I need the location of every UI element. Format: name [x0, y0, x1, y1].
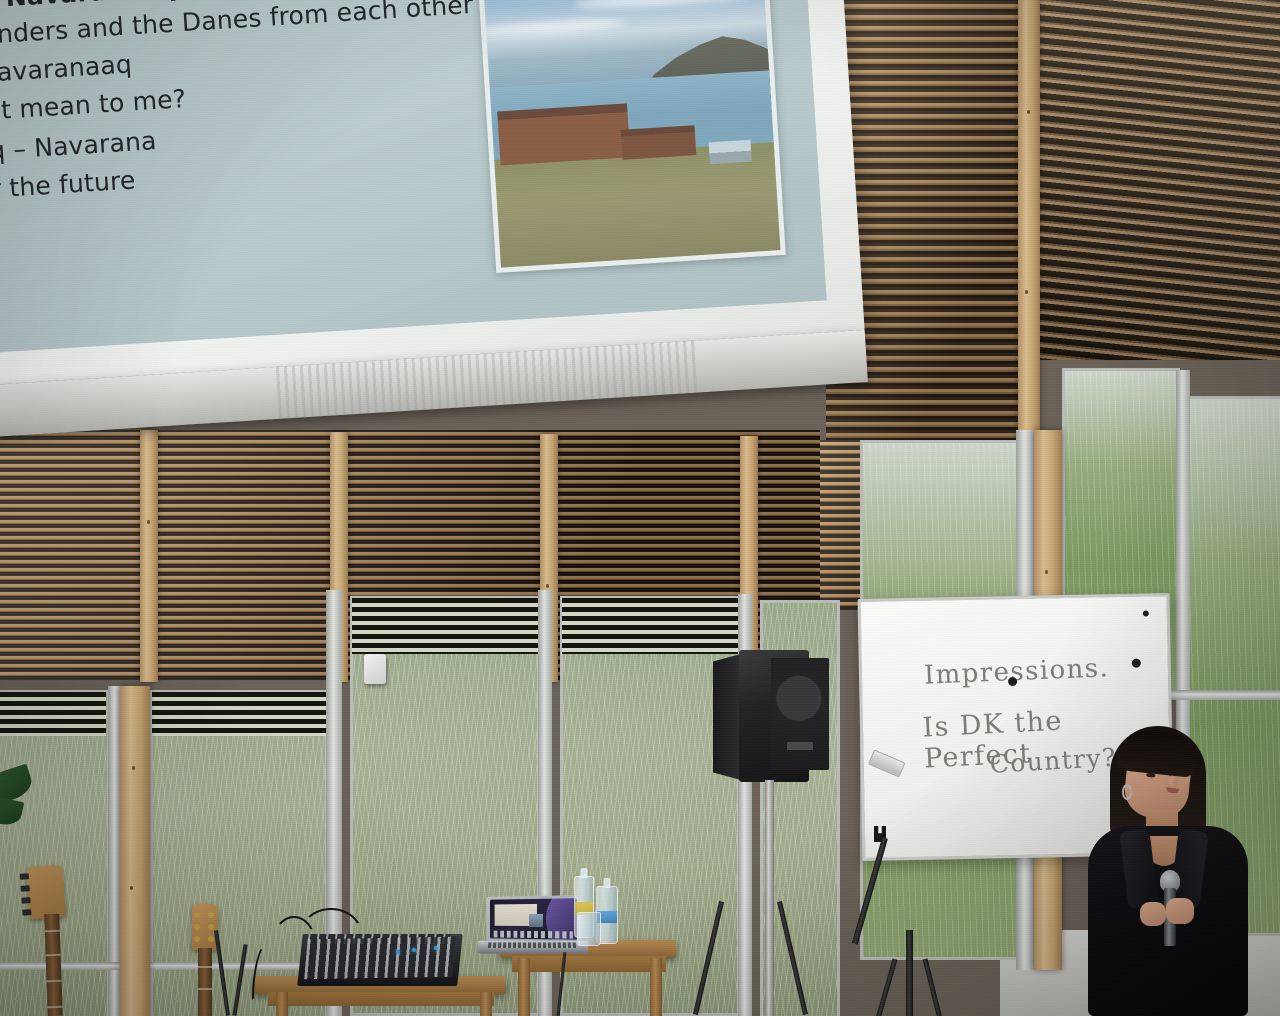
ceiling-slat-panel [1030, 0, 1280, 360]
presenter-hand-left [1140, 902, 1166, 926]
mic-stand-leg-b [923, 958, 943, 1016]
bass-tuner-4 [22, 909, 31, 916]
speaker-stand-pole [765, 780, 774, 1016]
presentation-slide: ...astari_radio=1 xcLdsW1zL- ...out Nava… [0, 0, 827, 353]
audio-mixer[interactable] [300, 928, 460, 990]
speaker-cabinet-front [739, 650, 809, 782]
transom-slats-center-right [562, 598, 738, 654]
mixer-led-1 [396, 950, 400, 954]
slide-bullet-3: ...as Navaranaaq [0, 49, 133, 91]
slide-photo-building-main [497, 103, 630, 165]
transom-slats-center [352, 598, 538, 654]
projection-screen-surface: ...astari_radio=1 xcLdsW1zL- ...out Nava… [0, 0, 865, 385]
table-right-leg-a [518, 958, 530, 1016]
acoustic-tuner-6 [208, 936, 214, 942]
bottle-neck [581, 868, 588, 878]
slide-photo-greenland-settlement [476, 0, 785, 273]
laptop-base [477, 941, 588, 954]
acoustic-tuner-2 [194, 924, 200, 930]
table-left-leg-b [480, 992, 492, 1016]
acoustic-tuner-3 [194, 936, 200, 942]
acoustic-fret-1 [198, 966, 212, 968]
presenter-laptop[interactable] [478, 896, 588, 960]
mixer-fader-bank[interactable] [304, 937, 456, 980]
slide-bullet-5: ...naaq – Navarana [0, 126, 157, 170]
speaker-grille [771, 658, 829, 770]
whiteboard-eraser[interactable] [868, 750, 906, 778]
laptop-dock[interactable] [494, 931, 573, 939]
drinking-glass[interactable] [577, 912, 601, 946]
bass-fret-4 [47, 1006, 62, 1009]
wall-sensor-box [364, 654, 386, 684]
acoustic-fret-2 [198, 988, 212, 990]
bass-tuner-3 [21, 897, 30, 904]
table-left-apron [268, 992, 494, 1006]
bass-fret-3 [47, 980, 62, 983]
acoustic-guitar-neck [198, 948, 212, 1016]
transom-slats-left [0, 692, 106, 736]
bass-tuner-2 [21, 885, 30, 892]
wood-post-window-left [120, 686, 150, 1016]
bottle-neck-blue [604, 878, 611, 888]
laptop-keyboard[interactable] [488, 942, 576, 948]
mixer-led-2 [412, 948, 416, 952]
laptop-screen[interactable] [490, 898, 577, 939]
laptop-slide-thumbnail [529, 914, 543, 927]
slide-bullet-4: ...oes it mean to me? [0, 84, 187, 130]
whiteboard-magnet-3 [1143, 610, 1149, 616]
mixer-led-3 [434, 946, 438, 950]
bass-guitar-headstock [26, 865, 66, 919]
transom-slats-center-left [152, 692, 326, 736]
bass-fret-1 [45, 930, 60, 933]
slide-bullet-6: ...e for the future [0, 165, 136, 208]
speaker-badge [787, 742, 813, 750]
projection-screen: ...astari_radio=1 xcLdsW1zL- ...out Nava… [0, 0, 870, 465]
wood-post-vertical-right [1018, 0, 1040, 470]
table-right-leg-b [650, 958, 662, 1016]
whiteboard-magnet-2 [1132, 659, 1141, 668]
acoustic-tuner-5 [208, 924, 214, 930]
speaker-cabinet-side [713, 654, 741, 780]
slide-photo-shed [709, 140, 752, 165]
presenter [1078, 726, 1278, 1016]
laptop-lid [486, 895, 581, 943]
slide-photo-cloud-2 [574, 0, 754, 10]
acoustic-guitar-headstock [192, 904, 218, 950]
bass-tuner-1 [20, 873, 29, 880]
bass-fret-2 [46, 954, 61, 957]
slide-photo-building-second [621, 125, 697, 160]
wood-post-1 [140, 430, 158, 682]
presenter-hand-right [1166, 898, 1194, 924]
slide-photo-cloud-3 [476, 17, 626, 36]
acoustic-tuner-4 [208, 912, 214, 918]
acoustic-tuner-1 [194, 912, 200, 918]
photo-scene: Impressions. Is DK the Perfect Country? [0, 0, 1280, 1016]
pa-speaker [713, 650, 809, 782]
mic-stand-leg-a [876, 959, 898, 1016]
laptop-document-window[interactable] [495, 904, 537, 926]
whiteboard-line-1: Impressions. [923, 653, 1109, 690]
presenter-earring [1122, 784, 1132, 800]
mic-stand-column [906, 930, 913, 1016]
